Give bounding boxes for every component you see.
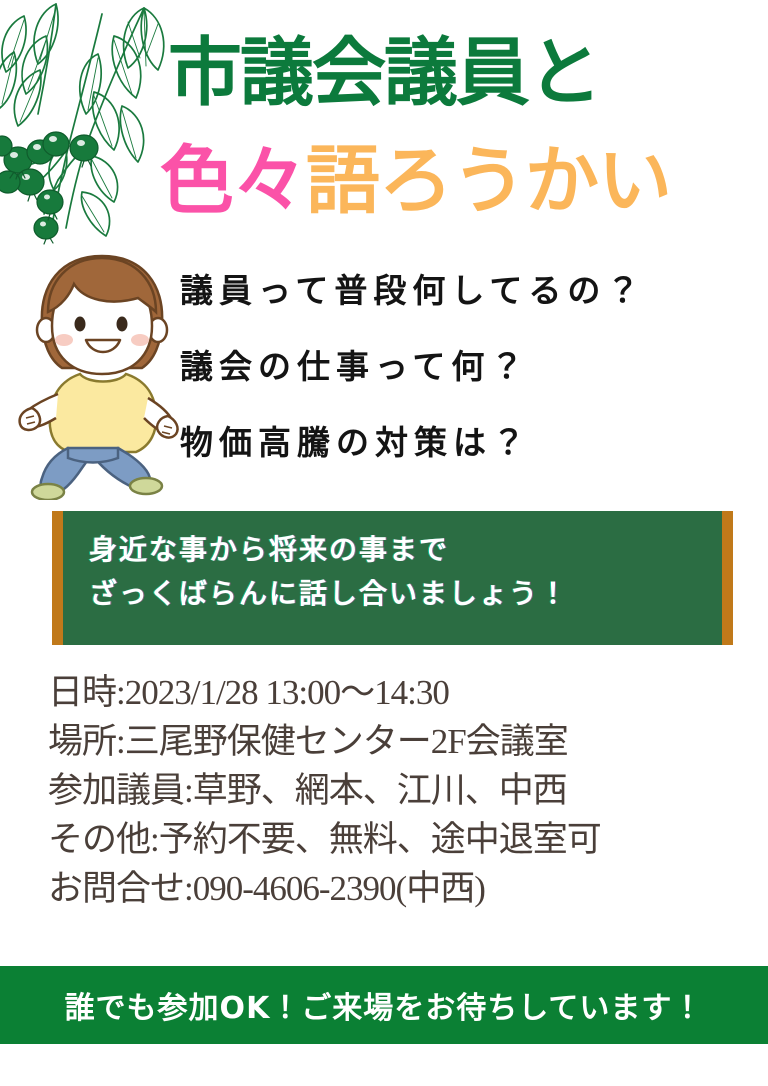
question-item: 物価高騰の対策は？ bbox=[180, 424, 750, 462]
boy-illustration bbox=[18, 248, 186, 500]
title-line-1: 市議会議員と bbox=[168, 30, 748, 116]
chalkboard-banner: 身近な事から将来の事まで ざっくばらんに話し合いましょう！ bbox=[52, 511, 733, 645]
title-line-2-orange: 語ろうかい bbox=[306, 138, 671, 224]
detail-contact: お問合せ:090-4606-2390(中西) bbox=[48, 864, 748, 913]
detail-datetime: 日時:2023/1/28 13:00〜14:30 bbox=[48, 668, 748, 717]
footer-bar: 誰でも参加OK！ご来場をお待ちしています！ bbox=[0, 966, 768, 1044]
question-item: 議員って普段何してるの？ bbox=[180, 272, 750, 310]
chalkboard-banner-text: 身近な事から将来の事まで ざっくばらんに話し合いましょう！ bbox=[89, 528, 712, 616]
detail-venue: 場所:三尾野保健センター2F会議室 bbox=[48, 717, 748, 766]
question-item: 議会の仕事って何？ bbox=[180, 348, 750, 386]
banner-line-2: ざっくばらんに話し合いましょう！ bbox=[89, 572, 712, 616]
banner-line-1: 身近な事から将来の事まで bbox=[89, 528, 712, 572]
detail-other: その他:予約不要、無料、途中退室可 bbox=[48, 815, 748, 864]
detail-participants: 参加議員:草野、網本、江川、中西 bbox=[48, 766, 748, 815]
event-details: 日時:2023/1/28 13:00〜14:30 場所:三尾野保健センター2F会… bbox=[48, 668, 748, 913]
title-line-2: 色々語ろうかい bbox=[160, 138, 760, 224]
title-line-2-pink: 色々 bbox=[160, 138, 306, 224]
footer-message: 誰でも参加OK！ご来場をお待ちしています！ bbox=[0, 966, 768, 1044]
question-list: 議員って普段何してるの？ 議会の仕事って何？ 物価高騰の対策は？ bbox=[180, 272, 750, 500]
poster-title: 市議会議員と 色々語ろうかい bbox=[0, 18, 768, 248]
